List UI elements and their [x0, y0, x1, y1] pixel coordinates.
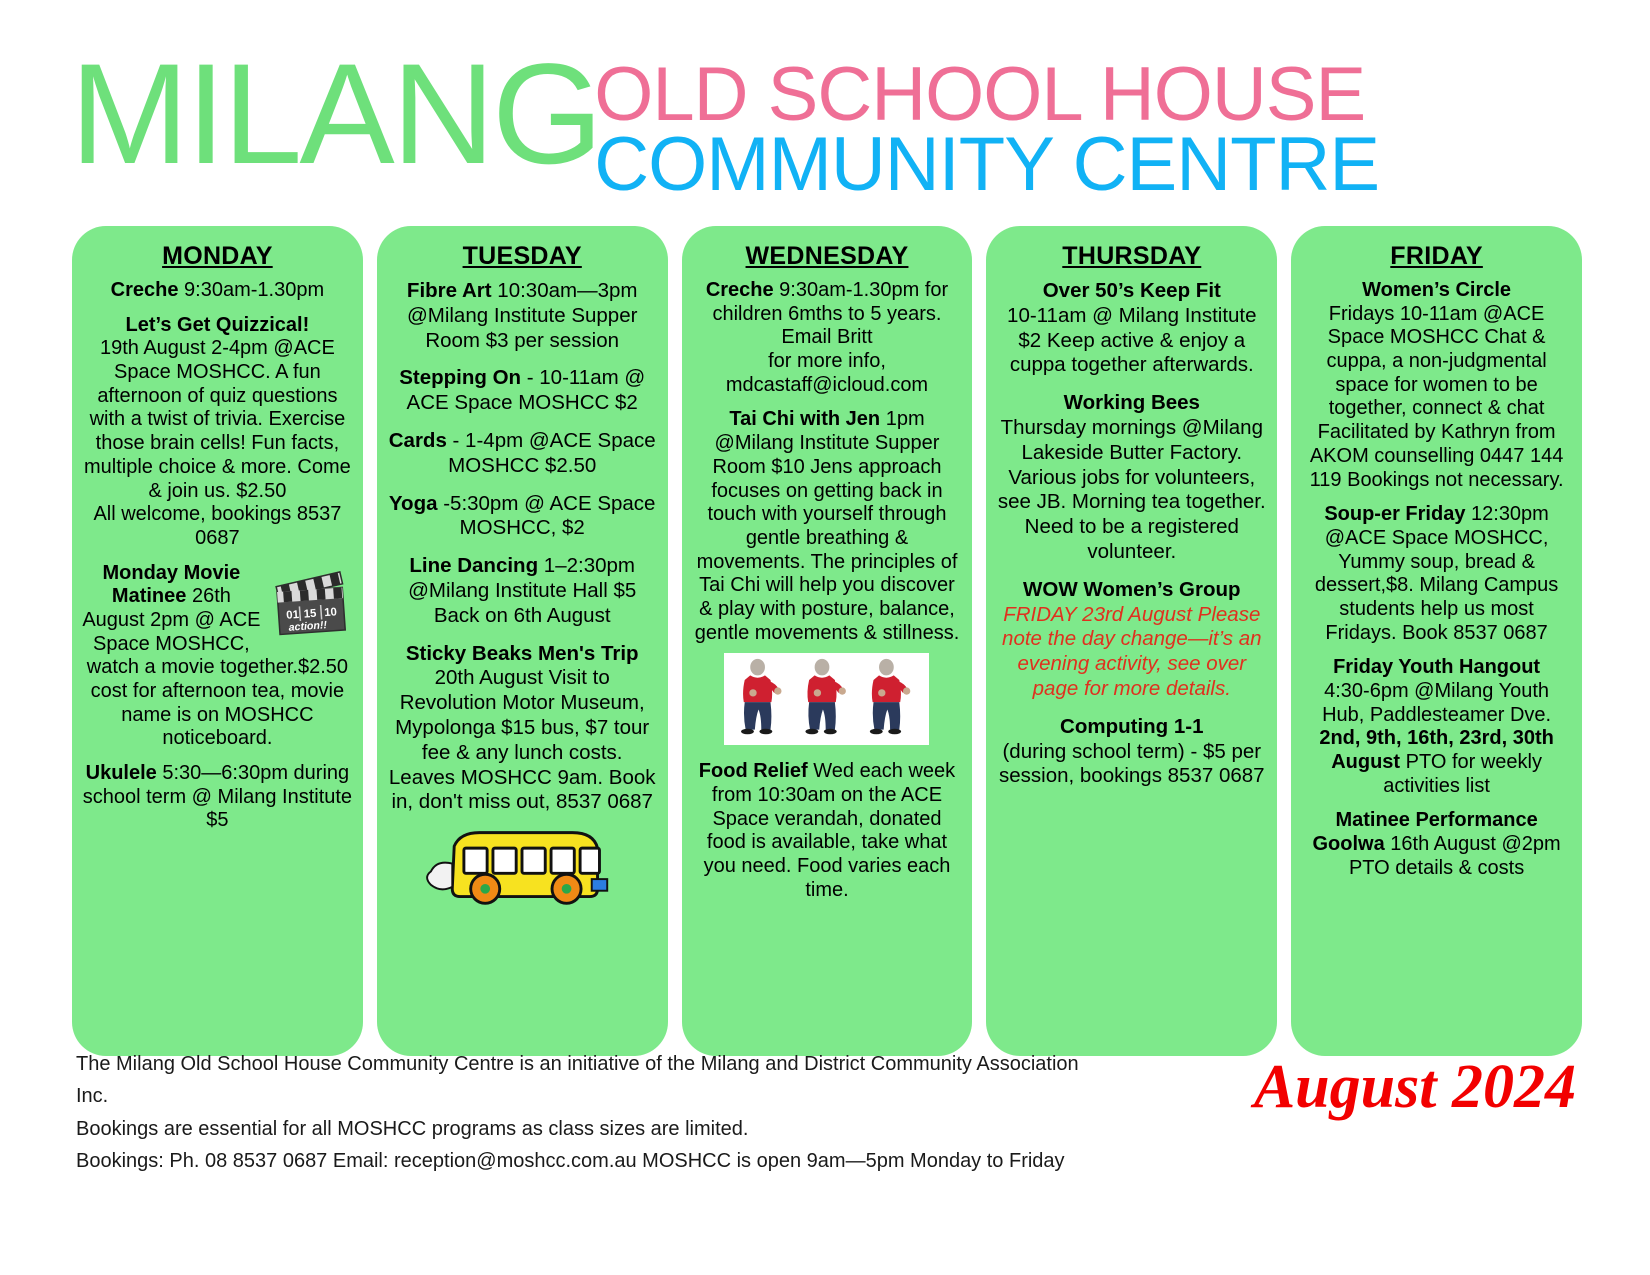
day-column-thursday: THURSDAYOver 50’s Keep Fit10-11am @ Mila… [986, 226, 1277, 1056]
activity-line: Friday Youth Hangout [1301, 656, 1572, 680]
brand-old-school-house: OLD SCHOOL HOUSE [594, 60, 1379, 130]
activity-name: WOW Women’s Group [1023, 578, 1241, 601]
activity-line: Women’s Circle [1301, 279, 1572, 303]
activity-line: Creche 9:30am-1.30pm [82, 279, 353, 303]
activity-line: Working Bees [996, 391, 1267, 416]
activity-block: Matinee Performance Goolwa 16th August @… [1301, 809, 1572, 880]
activity-block: Creche 9:30am-1.30pm [82, 279, 353, 303]
activity-name: Computing 1-1 [1060, 715, 1204, 738]
svg-text:10: 10 [324, 606, 337, 619]
activity-block: Stepping On - 10-11am @ ACE Space MOSHCC… [387, 366, 658, 416]
activity-block: Cards - 1-4pm @ACE Space MOSHCC $2.50 [387, 429, 658, 479]
brand-milang: MILANG [70, 48, 600, 181]
activity-line: for more info, mdcastaff@icloud.com [692, 350, 963, 397]
brand-community-centre: COMMUNITY CENTRE [594, 130, 1379, 200]
activity-line: Ukulele 5:30—6:30pm during school term @… [82, 762, 353, 833]
activity-line: Soup-er Friday 12:30pm @ACE Space MOSHCC… [1301, 503, 1572, 645]
activity-line: 19th August 2-4pm @ACE Space MOSHCC. A f… [82, 337, 353, 503]
activity-detail: PTO for weekly activities list [1383, 751, 1542, 797]
activity-detail: 9:30am-1.30pm [178, 279, 324, 301]
activity-block: WOW Women’s GroupFRIDAY 23rd August Plea… [996, 578, 1267, 702]
clapperboard-icon: 011510action!! [267, 564, 351, 640]
activity-line: Tai Chi with Jen 1pm @Milang Institute S… [692, 408, 963, 645]
activity-detail: - 1-4pm @ACE Space MOSHCC $2.50 [447, 429, 656, 477]
activity-block: Food Relief Wed each week from 10:30am o… [692, 760, 963, 902]
activity-block: Ukulele 5:30—6:30pm during school term @… [82, 762, 353, 833]
activity-line: Creche 9:30am-1.30pm for children 6mths … [692, 279, 963, 350]
activity-name: Line Dancing [409, 554, 538, 577]
svg-text:01: 01 [286, 608, 300, 621]
activity-line: Food Relief Wed each week from 10:30am o… [692, 760, 963, 902]
poster-header: MILANG OLD SCHOOL HOUSE COMMUNITY CENTRE [70, 38, 1590, 213]
activity-name: Soup-er Friday [1324, 503, 1465, 525]
activity-line: Thursday mornings @Milang Lakeside Butte… [996, 416, 1267, 565]
activity-detail: (during school term) - $5 per session, b… [999, 740, 1265, 788]
activity-block: Soup-er Friday 12:30pm @ACE Space MOSHCC… [1301, 503, 1572, 645]
activity-line: Fridays 10-11am @ACE Space MOSHCC Chat &… [1301, 303, 1572, 493]
schedule-change-note: FRIDAY 23rd August Please note the day c… [996, 603, 1267, 702]
activity-line: (during school term) - $5 per session, b… [996, 740, 1267, 790]
svg-text:15: 15 [303, 607, 317, 620]
tai-chi-photo-svg [724, 653, 929, 745]
activity-line: Stepping On - 10-11am @ ACE Space MOSHCC… [387, 366, 658, 416]
activity-line: Let’s Get Quizzical! [82, 314, 353, 338]
activity-block: Women’s CircleFridays 10-11am @ACE Space… [1301, 279, 1572, 492]
activity-line: Over 50’s Keep Fit [996, 279, 1267, 304]
activity-block: Friday Youth Hangout4:30-6pm @Milang You… [1301, 656, 1572, 798]
activity-block: Line Dancing 1–2:30pm @Milang Institute … [387, 554, 658, 628]
activity-line: Line Dancing 1–2:30pm @Milang Institute … [387, 554, 658, 628]
activity-name: Cards [389, 429, 447, 452]
activity-line: All welcome, bookings 8537 0687 [82, 503, 353, 550]
day-column-friday: FRIDAYWomen’s CircleFridays 10-11am @ACE… [1291, 226, 1582, 1056]
activity-line: Fibre Art 10:30am—3pm @Milang Institute … [387, 279, 658, 353]
activity-name: Ukulele [86, 762, 157, 784]
activity-block: Let’s Get Quizzical!19th August 2-4pm @A… [82, 314, 353, 551]
activity-name: Over 50’s Keep Fit [1043, 279, 1221, 302]
activity-line: Cards - 1-4pm @ACE Space MOSHCC $2.50 [387, 429, 658, 479]
activity-line: 4:30-6pm @Milang Youth Hub, Paddlesteame… [1301, 680, 1572, 727]
activity-name: Friday Youth Hangout [1333, 656, 1540, 678]
footer-notes: The Milang Old School House Community Ce… [76, 1048, 1086, 1178]
day-title: FRIDAY [1390, 242, 1483, 271]
activity-block: Tai Chi with Jen 1pm @Milang Institute S… [692, 408, 963, 749]
activity-line: Yoga -5:30pm @ ACE Space MOSHCC, $2 [387, 492, 658, 542]
activity-detail: for more info, mdcastaff@icloud.com [726, 350, 928, 396]
activity-block: Over 50’s Keep Fit10-11am @ Milang Insti… [996, 279, 1267, 378]
weekday-columns: MONDAYCreche 9:30am-1.30pmLet’s Get Quiz… [72, 226, 1582, 1056]
day-column-monday: MONDAYCreche 9:30am-1.30pmLet’s Get Quiz… [72, 226, 363, 1056]
activity-name: Tai Chi with Jen [729, 408, 880, 430]
activity-detail: 10-11am @ Milang Institute $2 Keep activ… [1007, 304, 1256, 377]
day-title: THURSDAY [1062, 242, 1201, 271]
activity-block: 011510action!!Monday Movie Matinee 26th … [82, 562, 353, 752]
day-title: WEDNESDAY [746, 242, 909, 271]
activity-name: Sticky Beaks Men's Trip [406, 642, 639, 665]
activity-name: Creche [706, 279, 774, 301]
activity-detail: -5:30pm @ ACE Space MOSHCC, $2 [438, 492, 656, 540]
day-title: TUESDAY [463, 242, 582, 271]
activity-detail: Fridays 10-11am @ACE Space MOSHCC Chat &… [1310, 303, 1564, 491]
activity-detail: 1pm @Milang Institute Supper Room $10 Je… [695, 408, 960, 643]
activity-detail: 20th August Visit to Revolution Motor Mu… [389, 666, 656, 813]
footer-line-1: The Milang Old School House Community Ce… [76, 1048, 1086, 1113]
activity-line: WOW Women’s Group [996, 578, 1267, 603]
activity-detail: All welcome, bookings 8537 0687 [93, 503, 341, 549]
day-column-tuesday: TUESDAYFibre Art 10:30am—3pm @Milang Ins… [377, 226, 668, 1056]
activity-line: Sticky Beaks Men's Trip 20th August Visi… [387, 642, 658, 816]
day-column-wednesday: WEDNESDAYCreche 9:30am-1.30pm for childr… [682, 226, 973, 1056]
activity-line: Matinee Performance Goolwa 16th August @… [1301, 809, 1572, 880]
activity-block: Creche 9:30am-1.30pm for children 6mths … [692, 279, 963, 397]
school-bus-icon-svg [423, 821, 621, 913]
brand-subtitle-group: OLD SCHOOL HOUSE COMMUNITY CENTRE [594, 60, 1379, 200]
activity-line: 2nd, 9th, 16th, 23rd, 30th August PTO fo… [1301, 727, 1572, 798]
activity-name: Women’s Circle [1362, 279, 1511, 301]
activity-block: Sticky Beaks Men's Trip 20th August Visi… [387, 642, 658, 914]
activity-block: Working BeesThursday mornings @Milang La… [996, 391, 1267, 565]
activity-block: Fibre Art 10:30am—3pm @Milang Institute … [387, 279, 658, 353]
activity-name: Fibre Art [407, 279, 492, 302]
clapperboard-icon-svg: 011510action!! [267, 564, 351, 640]
footer-line-3: Bookings: Ph. 08 8537 0687 Email: recept… [76, 1145, 1086, 1177]
activity-block: Computing 1-1(during school term) - $5 p… [996, 715, 1267, 789]
poster-page: MILANG OLD SCHOOL HOUSE COMMUNITY CENTRE… [0, 0, 1650, 1275]
activity-line: 10-11am @ Milang Institute $2 Keep activ… [996, 304, 1267, 378]
footer-line-2: Bookings are essential for all MOSHCC pr… [76, 1113, 1086, 1145]
activity-block: Yoga -5:30pm @ ACE Space MOSHCC, $2 [387, 492, 658, 542]
day-title: MONDAY [162, 242, 273, 271]
activity-detail: 4:30-6pm @Milang Youth Hub, Paddlesteame… [1322, 680, 1551, 726]
activity-detail: Thursday mornings @Milang Lakeside Butte… [998, 416, 1266, 563]
activity-detail: 19th August 2-4pm @ACE Space MOSHCC. A f… [84, 337, 351, 501]
month-label: August 2024 [1254, 1052, 1576, 1123]
activity-name: Yoga [389, 492, 438, 515]
activity-line: Computing 1-1 [996, 715, 1267, 740]
activity-name: Let’s Get Quizzical! [126, 314, 310, 336]
activity-name: Food Relief [699, 760, 808, 782]
activity-name: Creche [111, 279, 179, 301]
activity-name: Stepping On [399, 366, 521, 389]
activity-name: Working Bees [1064, 391, 1200, 414]
